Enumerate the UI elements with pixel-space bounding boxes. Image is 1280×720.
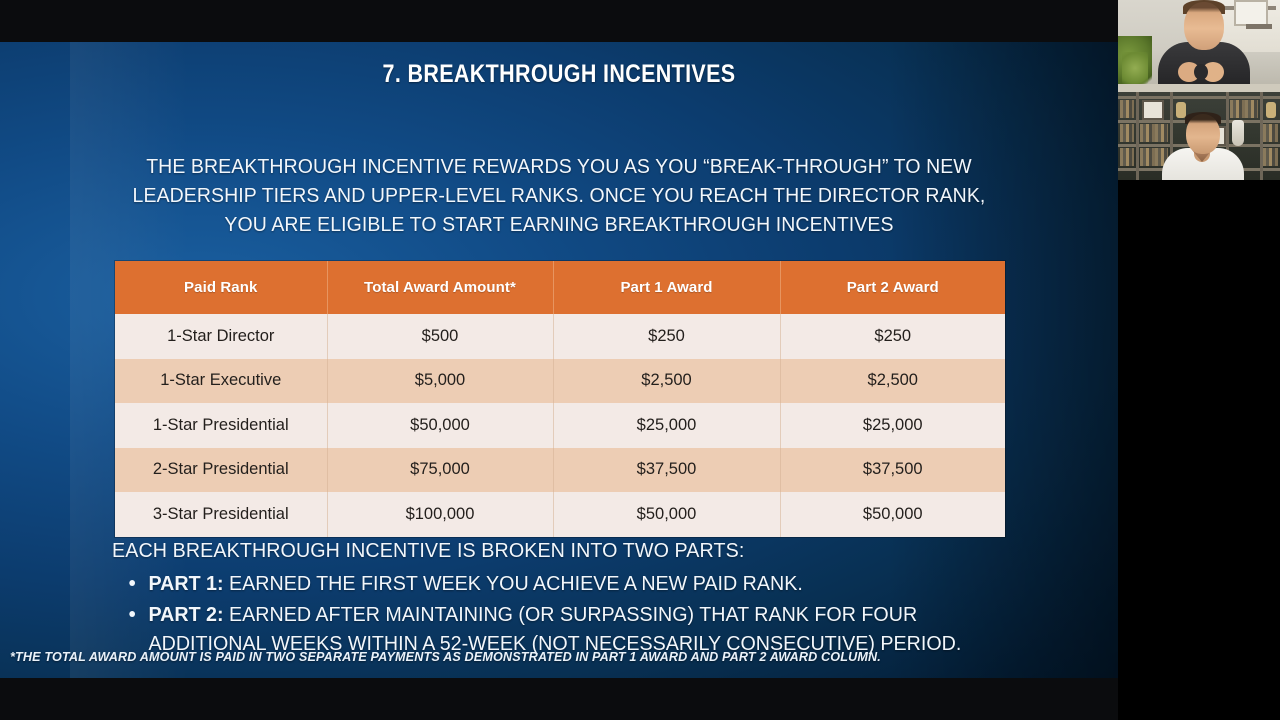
decor-vase <box>1232 120 1244 146</box>
list-item: PART 1: EARNED THE FIRST WEEK YOU ACHIEV… <box>148 569 1012 599</box>
cell-paid-rank: 1-Star Executive <box>115 359 327 404</box>
cell-paid-rank: 2-Star Presidential <box>115 448 327 493</box>
presentation-slide: 7. BREAKTHROUGH INCENTIVES THE BREAKTHRO… <box>0 42 1118 678</box>
cell-part-1-award: $2,500 <box>553 359 780 404</box>
decor-trophy <box>1176 102 1186 118</box>
slide-title: 7. BREAKTHROUGH INCENTIVES <box>78 60 1039 89</box>
footnote-text: *THE TOTAL AWARD AMOUNT IS PAID IN TWO S… <box>10 649 881 664</box>
shelf-board <box>1118 96 1280 99</box>
video-strip-empty-area <box>1118 180 1280 720</box>
person-head <box>1184 2 1224 50</box>
table-row: 3-Star Presidential $100,000 $50,000 $50… <box>115 492 1005 537</box>
cell-paid-rank: 1-Star Director <box>115 314 327 359</box>
part-1-text: EARNED THE FIRST WEEK YOU ACHIEVE A NEW … <box>224 572 803 595</box>
cell-part-2-award: $250 <box>780 314 1005 359</box>
cell-total-award: $500 <box>327 314 553 359</box>
cell-part-1-award: $250 <box>553 314 780 359</box>
column-header-part-1-award: Part 1 Award <box>553 261 780 314</box>
table-row: 1-Star Director $500 $250 $250 <box>115 314 1005 359</box>
table-row: 2-Star Presidential $75,000 $37,500 $37,… <box>115 448 1005 493</box>
cell-part-2-award: $25,000 <box>780 403 1005 448</box>
cell-part-2-award: $50,000 <box>780 492 1005 537</box>
cell-total-award: $5,000 <box>327 359 553 404</box>
award-schedule-table: Paid Rank Total Award Amount* Part 1 Awa… <box>115 261 1005 537</box>
part-1-label: PART 1: <box>148 572 223 595</box>
table-row: 1-Star Executive $5,000 $2,500 $2,500 <box>115 359 1005 404</box>
cell-part-1-award: $25,000 <box>553 403 780 448</box>
parts-lead-in-text: EACH BREAKTHROUGH INCENTIVE IS BROKEN IN… <box>112 539 744 563</box>
book-row <box>1120 100 1134 118</box>
picture-frame <box>1234 0 1268 26</box>
person-head <box>1186 114 1220 154</box>
cell-part-1-award: $37,500 <box>553 448 780 493</box>
shelf-upright <box>1136 92 1139 180</box>
column-header-part-2-award: Part 2 Award <box>780 261 1005 314</box>
table-row: 1-Star Presidential $50,000 $25,000 $25,… <box>115 403 1005 448</box>
picture-frame <box>1142 100 1164 120</box>
cell-part-2-award: $2,500 <box>780 359 1005 404</box>
parts-bullet-list: PART 1: EARNED THE FIRST WEEK YOU ACHIEV… <box>112 569 1012 660</box>
cell-total-award: $75,000 <box>327 448 553 493</box>
column-header-total-award: Total Award Amount* <box>327 261 553 314</box>
book-stack <box>1246 24 1272 29</box>
book-row <box>1263 124 1278 142</box>
cell-total-award: $50,000 <box>327 403 553 448</box>
book-row <box>1120 124 1134 142</box>
book-row <box>1140 124 1168 142</box>
part-2-label: PART 2: <box>148 603 223 626</box>
column-header-paid-rank: Paid Rank <box>115 261 327 314</box>
book-row <box>1120 148 1134 166</box>
person-hands-gap <box>1194 64 1208 80</box>
screen-share-region: 7. BREAKTHROUGH INCENTIVES THE BREAKTHRO… <box>0 0 1118 720</box>
table-header-row: Paid Rank Total Award Amount* Part 1 Awa… <box>115 261 1005 314</box>
participant-video-tile-bottom[interactable] <box>1118 92 1280 180</box>
cell-paid-rank: 1-Star Presidential <box>115 403 327 448</box>
cell-total-award: $100,000 <box>327 492 553 537</box>
cell-part-2-award: $37,500 <box>780 448 1005 493</box>
screen: 7. BREAKTHROUGH INCENTIVES THE BREAKTHRO… <box>0 0 1280 720</box>
part-2-text: EARNED AFTER MAINTAINING (OR SURPASSING)… <box>148 603 961 656</box>
desk-surface <box>1118 84 1280 92</box>
participant-video-strip <box>1118 0 1280 720</box>
book-row <box>1263 148 1278 166</box>
cell-part-1-award: $50,000 <box>553 492 780 537</box>
bullet-dot-icon <box>129 580 135 586</box>
decor-trophy <box>1266 102 1276 118</box>
participant-video-tile-top[interactable] <box>1118 0 1280 92</box>
cell-paid-rank: 3-Star Presidential <box>115 492 327 537</box>
book-row <box>1230 100 1258 118</box>
slide-intro-paragraph: THE BREAKTHROUGH INCENTIVE REWARDS YOU A… <box>132 152 985 239</box>
bullet-dot-icon <box>129 611 135 617</box>
